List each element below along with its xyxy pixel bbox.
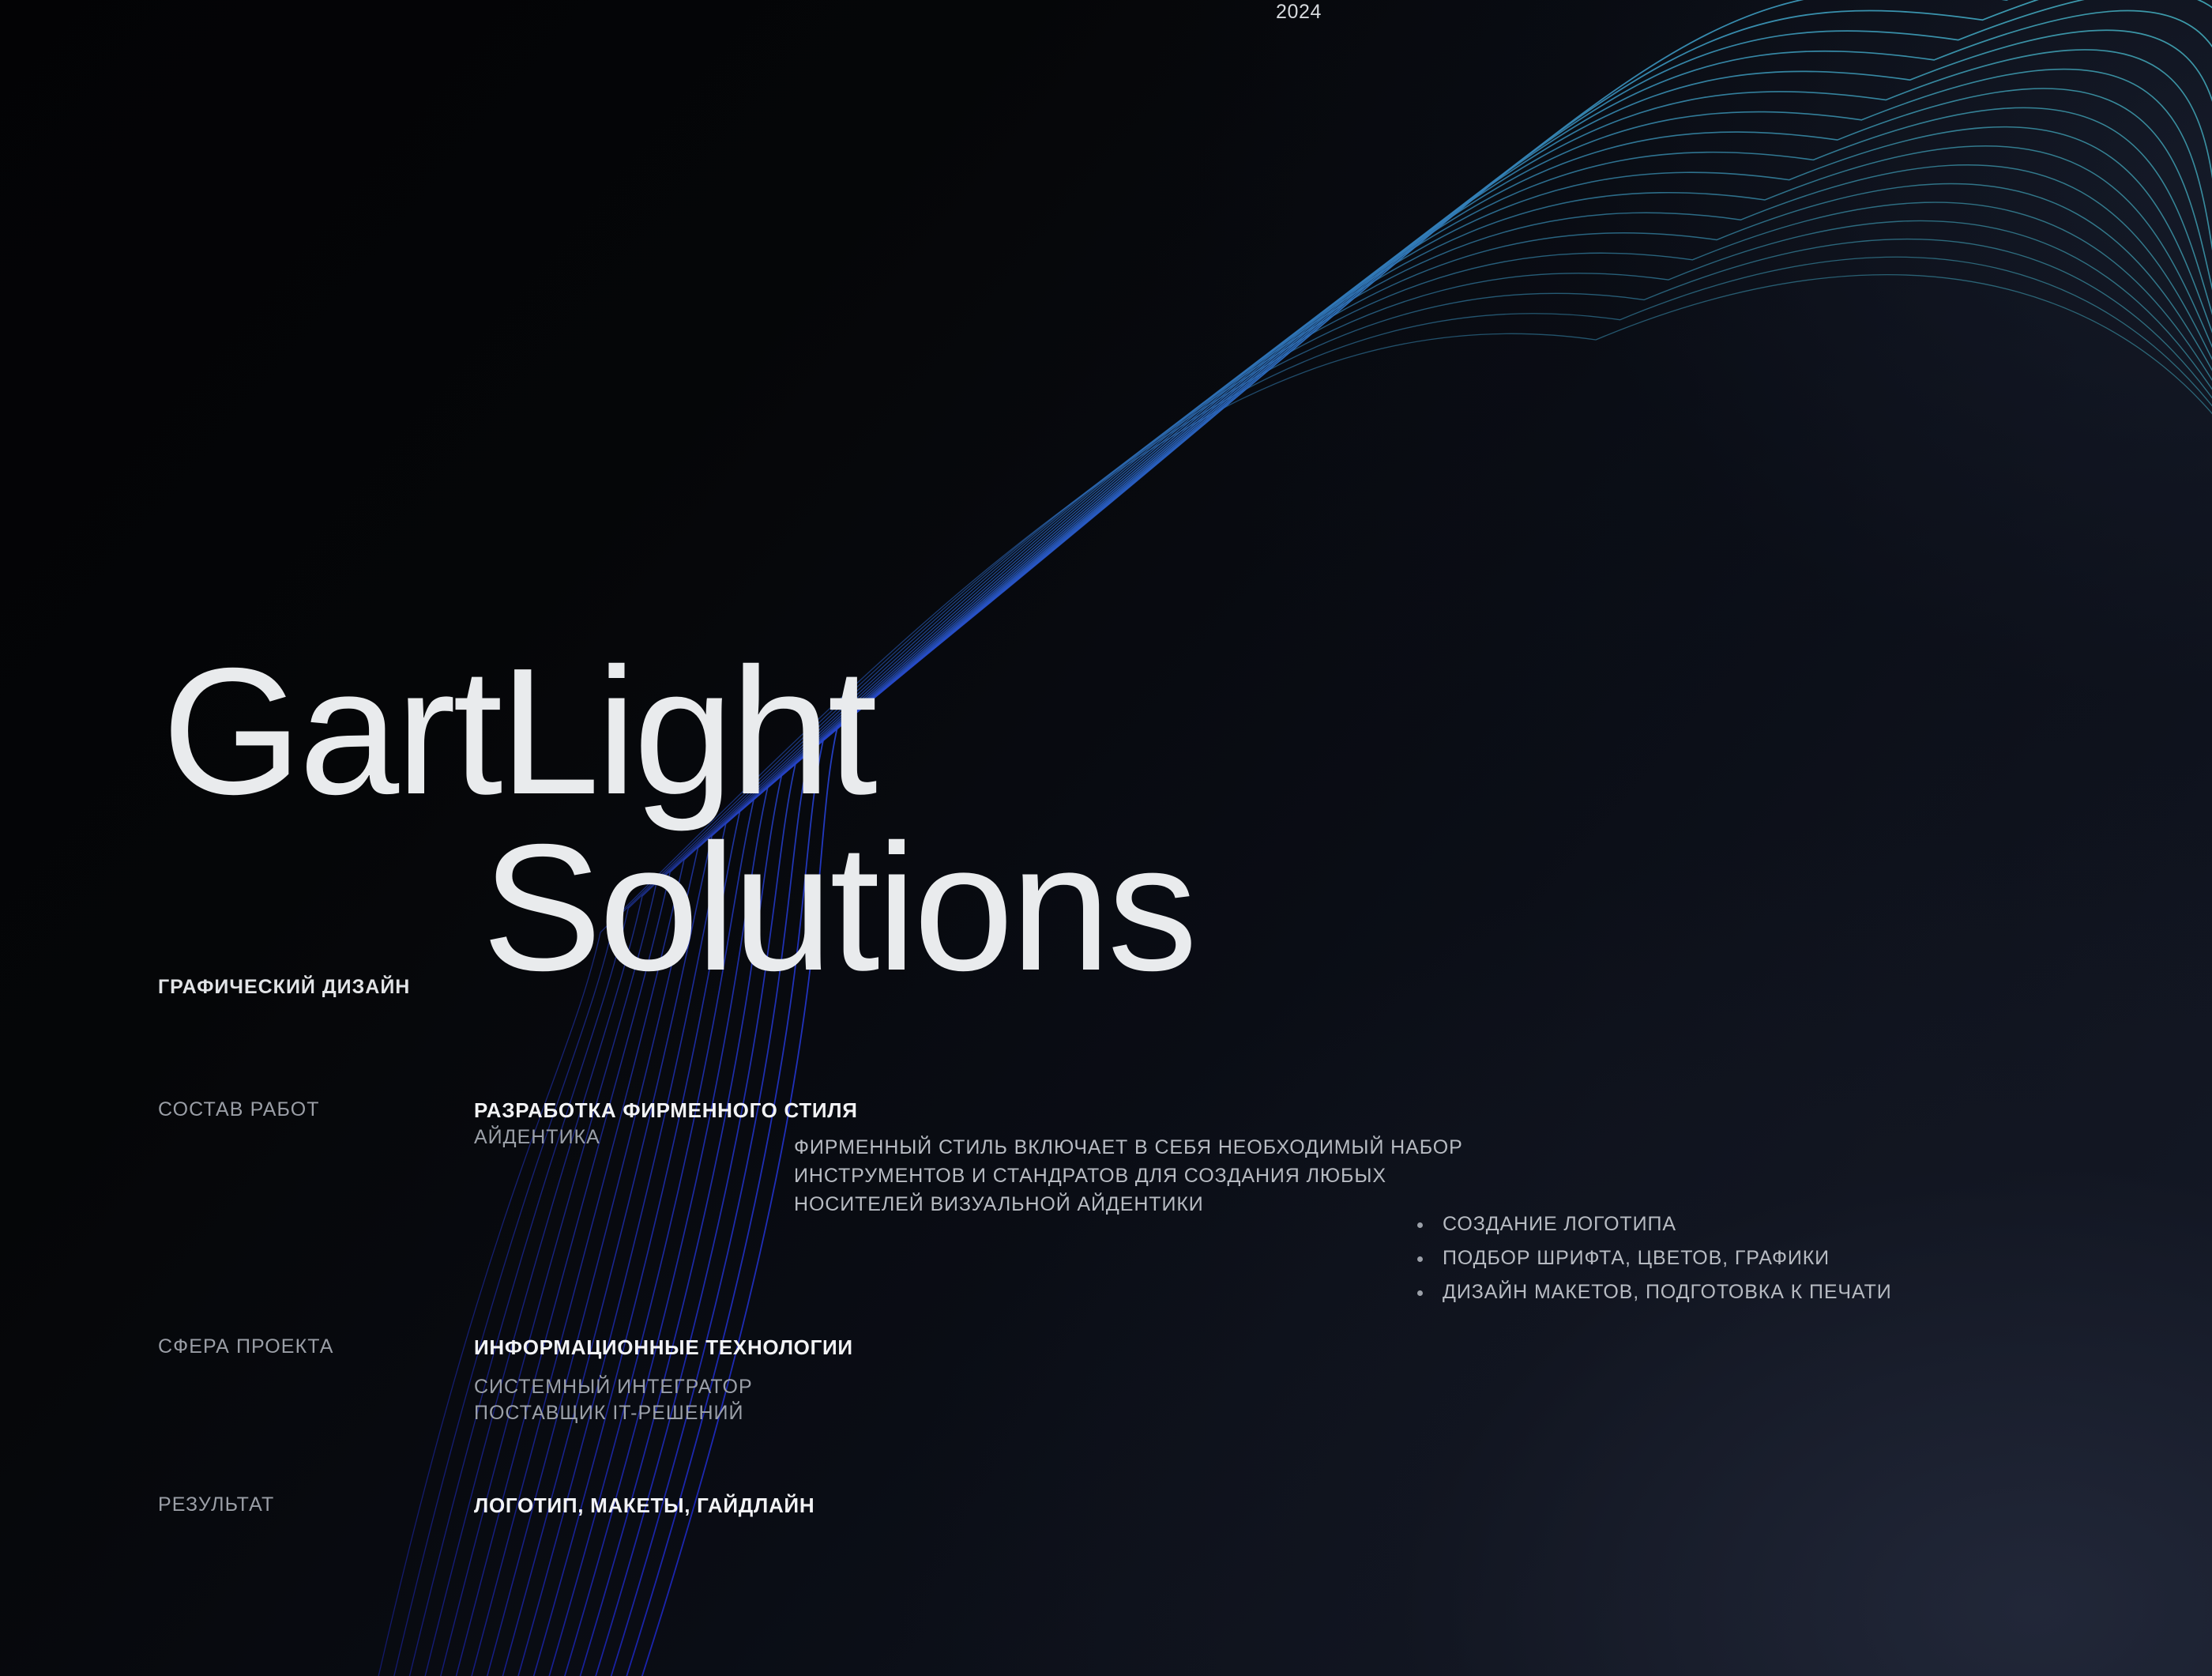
spec-value-industry: ИНФОРМАЦИОННЫЕ ТЕХНОЛОГИИ СИСТЕМНЫЙ ИНТЕ… [474, 1335, 1501, 1425]
year-label: 2024 [1276, 1, 1322, 24]
list-item: ДИЗАЙН МАКЕТОВ, ПОДГОТОВКА К ПЕЧАТИ [1414, 1275, 1892, 1309]
spec-title-result: ЛОГОТИП, МАКЕТЫ, ГАЙДЛАЙН [474, 1493, 1501, 1518]
spec-subtitle-industry-2: ПОСТАВЩИК IT-РЕШЕНИЙ [474, 1402, 1501, 1425]
title-line-1: GartLight [162, 644, 1347, 820]
list-item: СОЗДАНИЕ ЛОГОТИПА [1414, 1207, 1892, 1241]
bullet-dot-icon [1417, 1222, 1423, 1228]
title-line-2: Solutions [162, 820, 1347, 996]
spec-label-industry: СФЕРА ПРОЕКТА [158, 1335, 334, 1358]
list-item-label: ДИЗАЙН МАКЕТОВ, ПОДГОТОВКА К ПЕЧАТИ [1443, 1281, 1892, 1303]
spec-label-scope: СОСТАВ РАБОТ [158, 1098, 320, 1121]
list-item: ПОДБОР ШРИФТА, ЦВЕТОВ, ГРАФИКИ [1414, 1241, 1892, 1275]
spec-title-scope: РАЗРАБОТКА ФИРМЕННОГО СТИЛЯ [474, 1098, 1501, 1123]
discipline-label: ГРАФИЧЕСКИЙ ДИЗАЙН [158, 976, 410, 999]
description-paragraph: ФИРМЕННЫЙ СТИЛЬ ВКЛЮЧАЕТ В СЕБЯ НЕОБХОДИ… [794, 1133, 1584, 1218]
page-title: GartLight Solutions [162, 644, 1347, 997]
deliverables-list: СОЗДАНИЕ ЛОГОТИПА ПОДБОР ШРИФТА, ЦВЕТОВ,… [1414, 1207, 1892, 1309]
bullet-dot-icon [1417, 1256, 1423, 1262]
spec-label-result: РЕЗУЛЬТАТ [158, 1493, 274, 1516]
spec-value-result: ЛОГОТИП, МАКЕТЫ, ГАЙДЛАЙН [474, 1493, 1501, 1518]
spec-title-industry: ИНФОРМАЦИОННЫЕ ТЕХНОЛОГИИ [474, 1335, 1501, 1360]
description-line-1: ФИРМЕННЫЙ СТИЛЬ ВКЛЮЧАЕТ В СЕБЯ НЕОБХОДИ… [794, 1133, 1584, 1162]
bullet-dot-icon [1417, 1290, 1423, 1296]
list-item-label: СОЗДАНИЕ ЛОГОТИПА [1443, 1213, 1676, 1235]
meta-row: ГРАФИЧЕСКИЙ ДИЗАЙН [158, 976, 2054, 1007]
description-line-2: ИНСТРУМЕНТОВ И СТАНДРАТОВ ДЛЯ СОЗДАНИЯ Л… [794, 1162, 1584, 1190]
spec-subtitle-industry-1: СИСТЕМНЫЙ ИНТЕГРАТОР [474, 1376, 1501, 1399]
list-item-label: ПОДБОР ШРИФТА, ЦВЕТОВ, ГРАФИКИ [1443, 1247, 1830, 1269]
poster-canvas: GartLight Solutions ГРАФИЧЕСКИЙ ДИЗАЙН 2… [0, 0, 2212, 1676]
